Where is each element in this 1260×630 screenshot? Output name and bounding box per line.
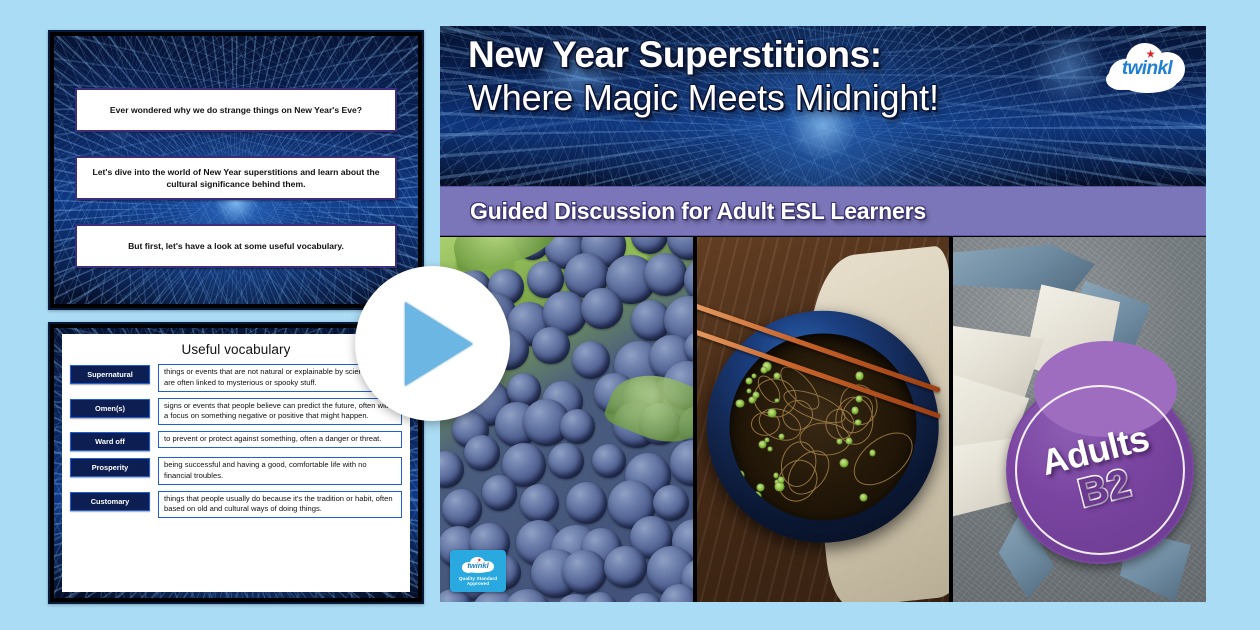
vocabulary-row: Customary things that people usually do … <box>70 491 402 519</box>
play-triangle-icon <box>405 302 473 386</box>
vocabulary-term: Ward off <box>70 432 150 451</box>
intro-slide-thumbnail[interactable]: Ever wondered why we do strange things o… <box>48 30 424 310</box>
grape-berry <box>626 593 664 602</box>
spring-onion-slice <box>860 494 868 502</box>
spring-onion-slice <box>745 378 752 385</box>
vocabulary-term: Customary <box>70 492 150 511</box>
spring-onion-slice <box>855 372 863 380</box>
cloud-icon: twinkl <box>461 557 495 574</box>
spring-onion-slice <box>736 399 745 408</box>
vocabulary-term: Supernatural <box>70 365 150 384</box>
spring-onion-slice <box>869 450 875 456</box>
spring-onion-slice <box>774 398 779 403</box>
vocabulary-definition: things that people usually do because it… <box>158 491 402 519</box>
spring-onion-slice <box>840 458 849 467</box>
vocabulary-card: Useful vocabulary Supernatural things or… <box>62 334 410 592</box>
grape-berry <box>644 253 687 296</box>
quality-badge-line2: Approved <box>467 581 489 586</box>
grape-berry <box>572 341 610 379</box>
badge-text-group: Adults B2 <box>986 356 1206 584</box>
spring-onion-slice <box>752 491 762 501</box>
spring-onion-slice <box>851 407 859 415</box>
vocabulary-term: Omen(s) <box>70 399 150 418</box>
intro-text-box-list: Ever wondered why we do strange things o… <box>75 88 397 268</box>
twinkl-logo[interactable]: twinkl <box>1104 40 1190 96</box>
grape-berry <box>631 237 669 254</box>
page-title: New Year Superstitions: <box>468 36 1186 74</box>
vocabulary-row: Omen(s) signs or events that people beli… <box>70 398 402 426</box>
spring-onion-slice <box>899 492 908 501</box>
spring-onion-slice <box>777 476 784 483</box>
spring-onion-slice <box>846 438 853 445</box>
grape-berry <box>581 288 622 329</box>
page-subtitle-line: Where Magic Meets Midnight! <box>468 80 1186 117</box>
spring-onion-slice <box>736 470 745 479</box>
grape-berry <box>653 485 689 521</box>
spring-onion-slice <box>768 408 777 417</box>
intro-slide-canvas: Ever wondered why we do strange things o… <box>54 36 418 304</box>
grape-berry <box>604 546 646 588</box>
grape-berry <box>464 435 500 471</box>
broken-plates-photo: Adults B2 <box>953 237 1206 602</box>
vocabulary-row: Ward off to prevent or protect against s… <box>70 431 402 451</box>
title-slide[interactable]: New Year Superstitions: Where Magic Meet… <box>440 26 1206 602</box>
vocabulary-row: Prosperity being successful and having a… <box>70 457 402 485</box>
intro-text-box: Ever wondered why we do strange things o… <box>75 88 397 132</box>
title-text-group: New Year Superstitions: Where Magic Meet… <box>440 26 1206 186</box>
vocabulary-row: Supernatural things or events that are n… <box>70 364 402 392</box>
vocabulary-definition: to prevent or protect against something,… <box>158 431 402 448</box>
grape-berry <box>482 475 517 510</box>
vocabulary-definition: being successful and having a good, comf… <box>158 457 402 485</box>
grape-berry <box>440 451 464 489</box>
intro-text-box: Let's dive into the world of New Year su… <box>75 156 397 200</box>
title-hero-banner: New Year Superstitions: Where Magic Meet… <box>440 26 1206 186</box>
spring-onion-slice <box>768 447 772 451</box>
play-button[interactable] <box>355 266 510 421</box>
spring-onion-slice <box>746 388 751 393</box>
noodles-photo <box>697 237 950 602</box>
grape-berry <box>670 440 693 485</box>
grape-berry <box>566 482 607 523</box>
grape-berry <box>532 327 570 365</box>
twinkl-quality-badge: twinkl Quality Standard Approved <box>450 550 506 592</box>
subtitle-text: Guided Discussion for Adult ESL Learners <box>470 198 926 225</box>
grape-berry <box>560 409 595 444</box>
grape-berry <box>592 444 626 478</box>
vocabulary-title: Useful vocabulary <box>70 342 402 357</box>
vocabulary-term: Prosperity <box>70 458 150 477</box>
twinkl-wordmark: twinkl <box>1104 41 1190 97</box>
bowl-interior <box>730 333 917 520</box>
grape-berry <box>520 484 559 523</box>
level-badge: Adults B2 <box>1006 376 1194 564</box>
spring-onion-slice <box>855 419 861 425</box>
spring-onion-slice <box>756 483 764 491</box>
subtitle-band: Guided Discussion for Adult ESL Learners <box>440 186 1206 236</box>
vocabulary-definition: signs or events that people believe can … <box>158 398 402 426</box>
spring-onion-slice <box>758 440 767 449</box>
grape-berry <box>562 550 607 595</box>
grape-berry <box>548 443 584 479</box>
intro-text-box: But first, let's have a look at some use… <box>75 224 397 268</box>
grape-berry <box>442 489 482 529</box>
photo-strip: twinkl Quality Standard Approved <box>440 237 1206 602</box>
spring-onion-slice <box>752 374 757 379</box>
spring-onion-slice <box>761 366 768 373</box>
